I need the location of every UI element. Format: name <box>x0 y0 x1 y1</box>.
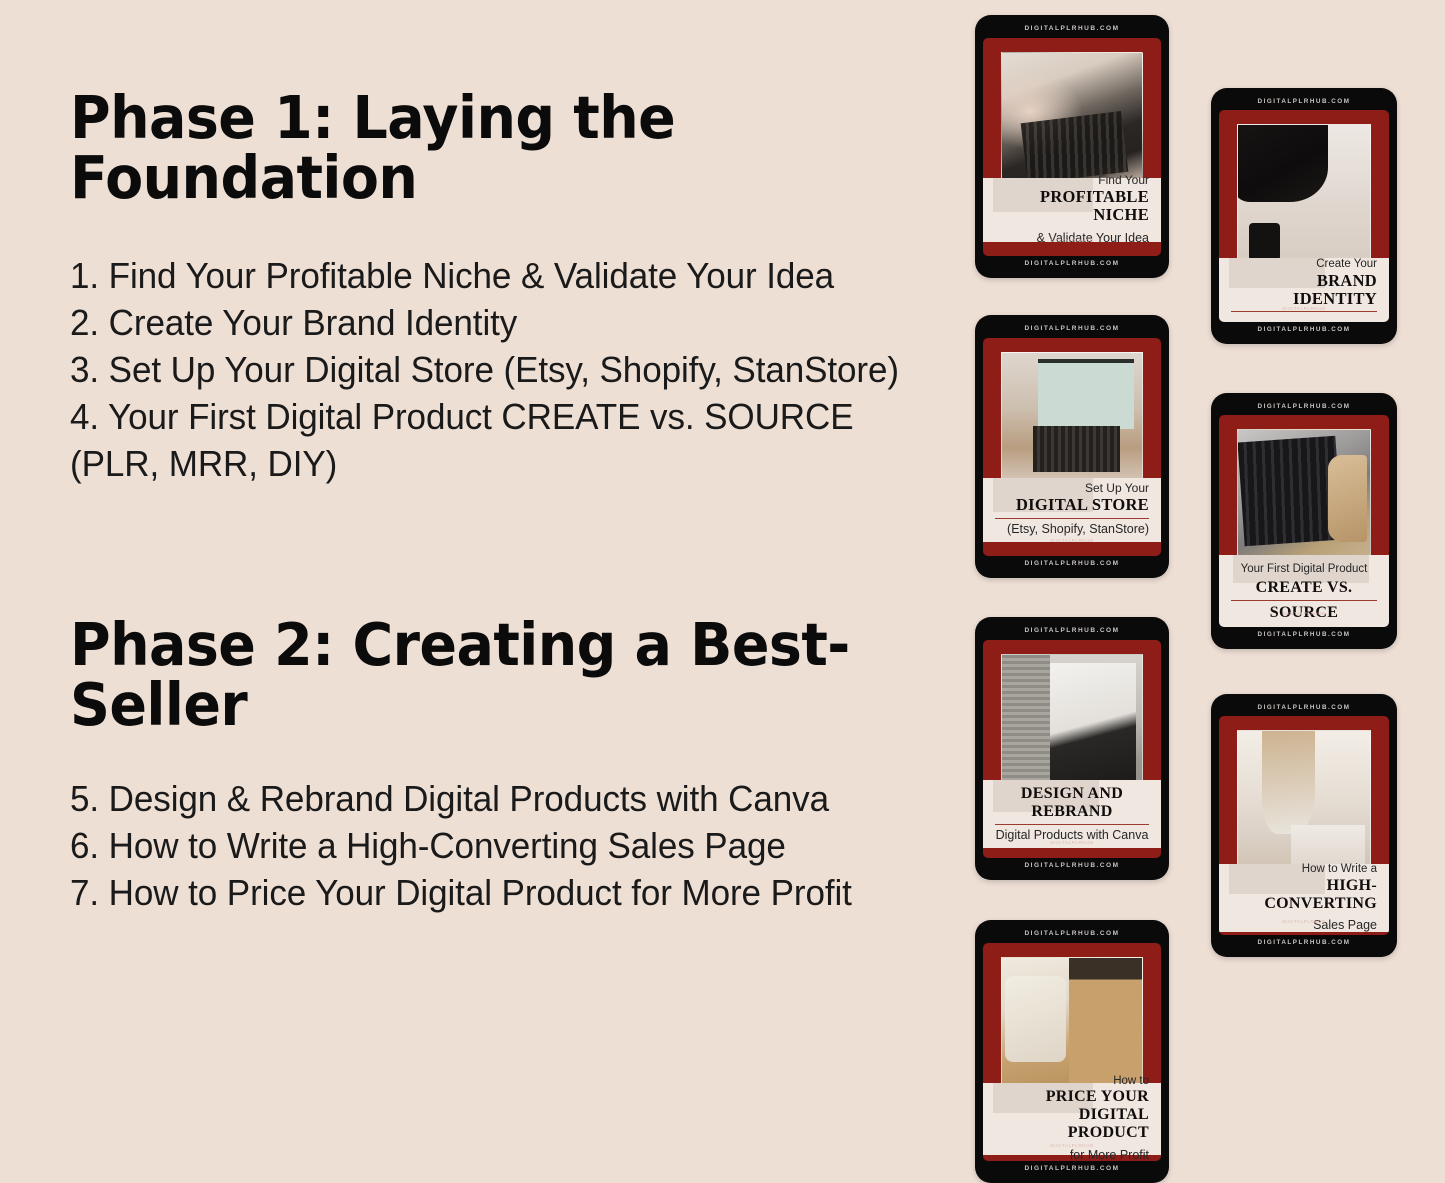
tablet-bezel-label: DIGITALPLRHUB.COM <box>1211 705 1397 711</box>
cover-title: PRICE YOUR <box>995 1088 1149 1106</box>
cover-title-line-2: DIGITAL PRODUCT <box>995 1106 1149 1142</box>
list-item: 4. Your First Digital Product CREATE vs.… <box>70 393 905 487</box>
tablet-bezel-label-bottom: DIGITALPLRHUB.COM <box>975 261 1169 268</box>
tablet-mockup-profitable-niche: DIGITALPLRHUB.COM Find Your PROFITABLE N… <box>975 15 1169 278</box>
tablet-bezel-label-bottom: DIGITALPLRHUB.COM <box>1211 327 1397 333</box>
cover-title: DIGITAL STORE <box>995 496 1149 514</box>
phase-2-list: 5. Design & Rebrand Digital Products wit… <box>70 775 905 916</box>
cover-caption-band: Find Your PROFITABLE NICHE & Validate Yo… <box>983 178 1161 242</box>
cover-title: PROFITABLE NICHE <box>995 188 1149 225</box>
tablet-bezel-label: DIGITALPLRHUB.COM <box>975 326 1169 333</box>
cover-footer-mark: DIGITALPLRHUB <box>983 840 1161 845</box>
ebook-cover-digital-store: Set Up Your DIGITAL STORE (Etsy, Shopify… <box>983 338 1161 556</box>
tablet-bezel-label: DIGITALPLRHUB.COM <box>1211 99 1397 105</box>
ebook-cover-profitable-niche: Find Your PROFITABLE NICHE & Validate Yo… <box>983 38 1161 256</box>
ebook-cover-create-vs-source: Your First Digital Product CREATE VS. SO… <box>1219 415 1389 626</box>
list-item: 7. How to Price Your Digital Product for… <box>70 869 905 916</box>
list-item: 1. Find Your Profitable Niche & Validate… <box>70 252 905 299</box>
cover-divider <box>1231 600 1377 601</box>
cover-title: HIGH-CONVERTING <box>1231 877 1377 913</box>
cover-kicker: Create Your <box>1231 258 1377 271</box>
phase-1-list: 1. Find Your Profitable Niche & Validate… <box>70 252 905 487</box>
cover-divider <box>1231 311 1377 312</box>
list-item: 2. Create Your Brand Identity <box>70 299 905 346</box>
tablet-mockup-create-vs-source: DIGITALPLRHUB.COM Your First Digital Pro… <box>1211 393 1397 649</box>
cover-subtitle: (Etsy, Shopify, StanStore) <box>995 522 1149 537</box>
ebook-cover-high-converting: How to Write a HIGH-CONVERTING Sales Pag… <box>1219 716 1389 934</box>
tablet-mockup-brand-identity: DIGITALPLRHUB.COM Create Your BRAND IDEN… <box>1211 88 1397 344</box>
cover-kicker: How to <box>995 1075 1149 1088</box>
phase-1-heading: Phase 1: Laying the Foundation <box>70 88 878 208</box>
content-column: Phase 1: Laying the Foundation 1. Find Y… <box>70 0 900 1156</box>
cover-photo <box>1237 429 1371 571</box>
cover-subtitle <box>1231 315 1377 322</box>
cover-title: CREATE VS. <box>1231 579 1377 597</box>
tablet-mockup-price-your-digital-product: DIGITALPLRHUB.COM How to PRICE YOUR DIGI… <box>975 920 1169 1183</box>
cover-caption-band: Set Up Your DIGITAL STORE (Etsy, Shopify… <box>983 478 1161 542</box>
cover-divider <box>995 824 1149 825</box>
list-item: 3. Set Up Your Digital Store (Etsy, Shop… <box>70 346 905 393</box>
cover-kicker: Find Your <box>995 174 1149 188</box>
cover-footer-mark: DIGITALPLRHUB <box>1219 306 1389 311</box>
cover-kicker: Your First Digital Product <box>1231 563 1377 576</box>
cover-caption-band: Your First Digital Product CREATE VS. SO… <box>1219 555 1389 626</box>
cover-footer-mark: DIGITALPLRHUB <box>1219 611 1389 616</box>
tablet-bezel-label: DIGITALPLRHUB.COM <box>975 26 1169 33</box>
cover-kicker: Set Up Your <box>995 482 1149 496</box>
cover-divider <box>995 518 1149 519</box>
list-item: 6. How to Write a High-Converting Sales … <box>70 822 905 869</box>
cover-caption-band: DESIGN AND REBRAND Digital Products with… <box>983 780 1161 848</box>
list-item: 5. Design & Rebrand Digital Products wit… <box>70 775 905 822</box>
tablet-bezel-label-bottom: DIGITALPLRHUB.COM <box>975 561 1169 568</box>
cover-subtitle: for More Profit <box>995 1148 1149 1161</box>
phase-2-heading: Phase 2: Creating a Best-Seller <box>70 615 878 735</box>
cover-title: BRAND IDENTITY <box>1231 272 1377 309</box>
cover-footer-mark: DIGITALPLRHUB <box>1219 919 1389 924</box>
cover-title: DESIGN AND REBRAND <box>995 785 1149 821</box>
ebook-cover-price-your-digital-product: How to PRICE YOUR DIGITAL PRODUCT for Mo… <box>983 943 1161 1161</box>
tablet-bezel-label: DIGITALPLRHUB.COM <box>975 628 1169 635</box>
tablet-mockup-design-and-rebrand: DIGITALPLRHUB.COM DESIGN AND REBRAND Dig… <box>975 617 1169 880</box>
tablet-bezel-label-bottom: DIGITALPLRHUB.COM <box>975 863 1169 870</box>
tablet-bezel-label-bottom: DIGITALPLRHUB.COM <box>1211 632 1397 638</box>
tablet-bezel-label-bottom: DIGITALPLRHUB.COM <box>975 1166 1169 1173</box>
tablet-mockup-high-converting: DIGITALPLRHUB.COM How to Write a HIGH-CO… <box>1211 694 1397 957</box>
tablet-mockup-digital-store: DIGITALPLRHUB.COM Set Up Your DIGITAL ST… <box>975 315 1169 578</box>
cover-caption-band: Create Your BRAND IDENTITY <box>1219 258 1389 321</box>
cover-footer-mark: DIGITALPLRHUB <box>983 238 1161 243</box>
cover-footer-mark: DIGITALPLRHUB <box>983 538 1161 543</box>
cover-footer-mark: DIGITALPLRHUB <box>983 1143 1161 1148</box>
tablet-bezel-label-bottom: DIGITALPLRHUB.COM <box>1211 940 1397 946</box>
tablet-bezel-label: DIGITALPLRHUB.COM <box>975 931 1169 938</box>
cover-kicker: How to Write a <box>1231 863 1377 876</box>
ebook-cover-brand-identity: Create Your BRAND IDENTITY DIGITALPLRHUB <box>1219 110 1389 321</box>
tablet-bezel-label: DIGITALPLRHUB.COM <box>1211 404 1397 410</box>
ebook-cover-design-and-rebrand: DESIGN AND REBRAND Digital Products with… <box>983 640 1161 858</box>
cover-photo <box>1237 124 1371 274</box>
